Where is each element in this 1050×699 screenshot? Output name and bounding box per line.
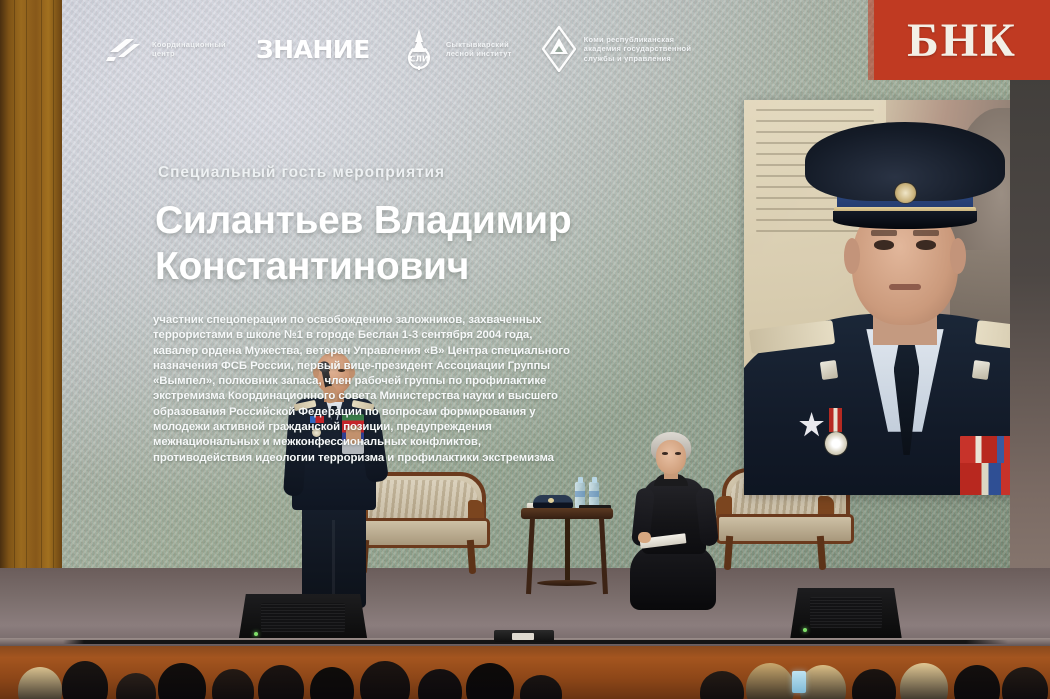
- audience-head: [62, 661, 108, 699]
- audience-head: [116, 673, 156, 699]
- audience-head: [520, 675, 562, 699]
- audience-head: [700, 671, 744, 699]
- logo-komi-akademiya-label: Коми республиканская академия государств…: [584, 35, 692, 64]
- slide-portrait-photo: [744, 100, 1010, 495]
- audience-head: [900, 663, 948, 699]
- power-led-icon: [254, 632, 258, 636]
- phone-screen: [792, 671, 806, 693]
- logo-syktyvkarsky-lesnoy-institut-label: Сыктывкарский лесной институт: [446, 40, 512, 59]
- audience-head: [466, 663, 514, 699]
- spruce-gear-icon: СЛИ: [400, 28, 438, 70]
- slide-bio: участник спецоперации по освобождению за…: [153, 313, 668, 466]
- audience-head: [18, 667, 62, 699]
- logo-znanie: ЗНАНИЕ: [256, 35, 370, 64]
- logo-koordinatsionny-centr: Координационный центр: [106, 33, 226, 65]
- logo-syktyvkarsky-lesnoy-institut: СЛИ Сыктывкарский лесной институт: [400, 28, 512, 70]
- audience-head: [360, 661, 410, 699]
- logo-komi-akademiya: Коми республиканская академия государств…: [542, 26, 692, 72]
- audience-head: [852, 669, 896, 699]
- projection-screen: Координационный центр ЗНАНИЕ: [58, 0, 1010, 612]
- bio-line: кавалер ордена Мужества, ветеран Управле…: [153, 344, 668, 359]
- audience-head: [310, 667, 354, 699]
- audience-head: [158, 663, 206, 699]
- slide-logo-bar: Координационный центр ЗНАНИЕ: [106, 26, 691, 72]
- stage-curtain-left: [0, 0, 62, 600]
- diamond-a-icon: [542, 26, 576, 72]
- bio-line: экстремизма Координационного совета Мини…: [153, 389, 668, 404]
- znanie-wordmark: ЗНАНИЕ: [256, 35, 370, 64]
- audience-head: [418, 669, 462, 699]
- power-led-icon: [803, 628, 807, 632]
- coordination-center-icon: [106, 33, 144, 65]
- audience-head: [1002, 667, 1048, 699]
- audience-head: [954, 665, 1000, 699]
- bio-line: назначения ФСБ России, первый вице-прези…: [153, 359, 668, 374]
- audience-head: [746, 663, 794, 699]
- slide-kicker: Специальный гость мероприятия: [158, 164, 445, 182]
- slide-guest-name: Силантьев Владимир Константинович: [155, 198, 775, 290]
- audience-head: [258, 665, 304, 699]
- bio-line: участник спецоперации по освобождению за…: [153, 313, 668, 328]
- audience-head: [800, 665, 846, 699]
- slide-guest-name-line1: Силантьев Владимир: [155, 198, 775, 244]
- bio-line: «Вымпел», полковник запаса, член рабочей…: [153, 374, 668, 389]
- bio-line: противодействия идеологии терроризма и п…: [153, 451, 668, 466]
- logo-koordinatsionny-centr-label: Координационный центр: [152, 40, 226, 59]
- audience-row: [0, 648, 1050, 699]
- slide-guest-name-line2: Константинович: [155, 244, 775, 290]
- svg-text:СЛИ: СЛИ: [409, 55, 428, 64]
- bio-line: межнациональных и межконфессиональных ко…: [153, 435, 668, 450]
- bio-line: молодежи активной гражданской позиции, п…: [153, 420, 668, 435]
- cable-junction-box: [494, 630, 554, 642]
- audience-head: [212, 669, 254, 699]
- bio-line: образования Российской Федерации по вопр…: [153, 405, 668, 420]
- bio-line: террористами в школе №1 в городе Беслан …: [153, 328, 668, 343]
- screenshot-root: Координационный центр ЗНАНИЕ: [0, 0, 1050, 699]
- hall-right-wall: [1005, 0, 1050, 610]
